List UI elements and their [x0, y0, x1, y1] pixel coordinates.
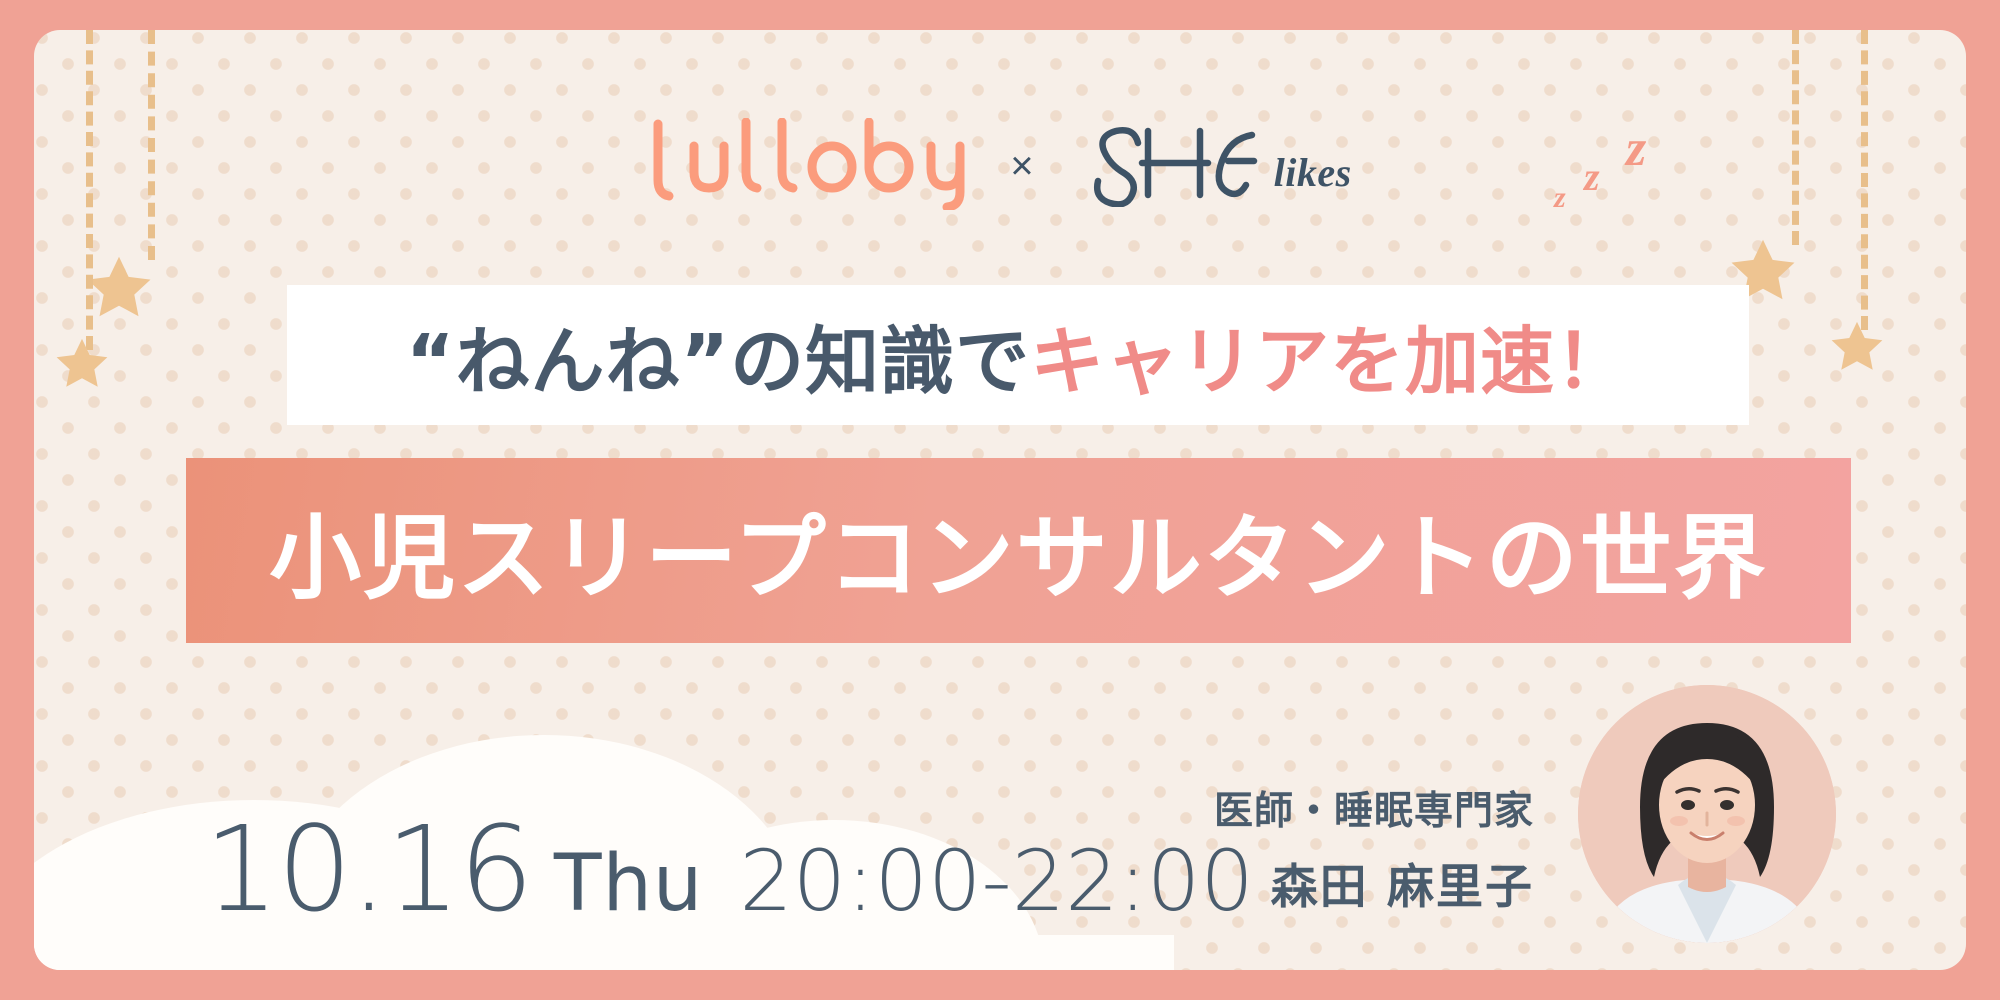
- star-icon: [82, 252, 156, 324]
- cloud-base: [34, 935, 1174, 970]
- headline-secondary-text: 小児スリープコンサルタントの世界: [269, 484, 1767, 617]
- speaker-name: 森田 麻里子: [1214, 848, 1534, 917]
- headline-primary-band: “ねんね”の知識でキャリアを加速！: [287, 285, 1749, 425]
- star-icon: [1827, 318, 1887, 376]
- event-time: 20:00-22:00: [739, 832, 1253, 930]
- headline-secondary-band: 小児スリープコンサルタントの世界: [186, 458, 1851, 643]
- star-icon: [52, 335, 112, 393]
- she-likes-wordmark: likes: [1274, 149, 1352, 196]
- lullaby-logo: [648, 118, 968, 210]
- headline-primary-dark: “ねんね”の知識で: [406, 319, 1030, 405]
- event-banner: × likes z z z: [0, 0, 2000, 1000]
- collab-x-icon: ×: [1010, 144, 1033, 189]
- logo-row: × likes: [34, 118, 1966, 210]
- headline-primary-text: “ねんね”の知識でキャリアを加速！: [406, 302, 1630, 409]
- banner-card: × likes z z z: [34, 30, 1966, 970]
- event-datetime: 10.16 Thu 20:00-22:00: [204, 800, 1254, 938]
- she-likes-logo: likes: [1076, 121, 1352, 207]
- event-date: 10.16: [204, 800, 532, 938]
- avatar: [1578, 685, 1836, 943]
- speaker-info: 医師・睡眠専門家 森田 麻里子: [1214, 780, 1534, 917]
- event-weekday: Thu: [554, 839, 704, 929]
- headline-primary-accent: キャリアを加速！: [1030, 319, 1630, 405]
- speaker-role: 医師・睡眠専門家: [1214, 780, 1534, 836]
